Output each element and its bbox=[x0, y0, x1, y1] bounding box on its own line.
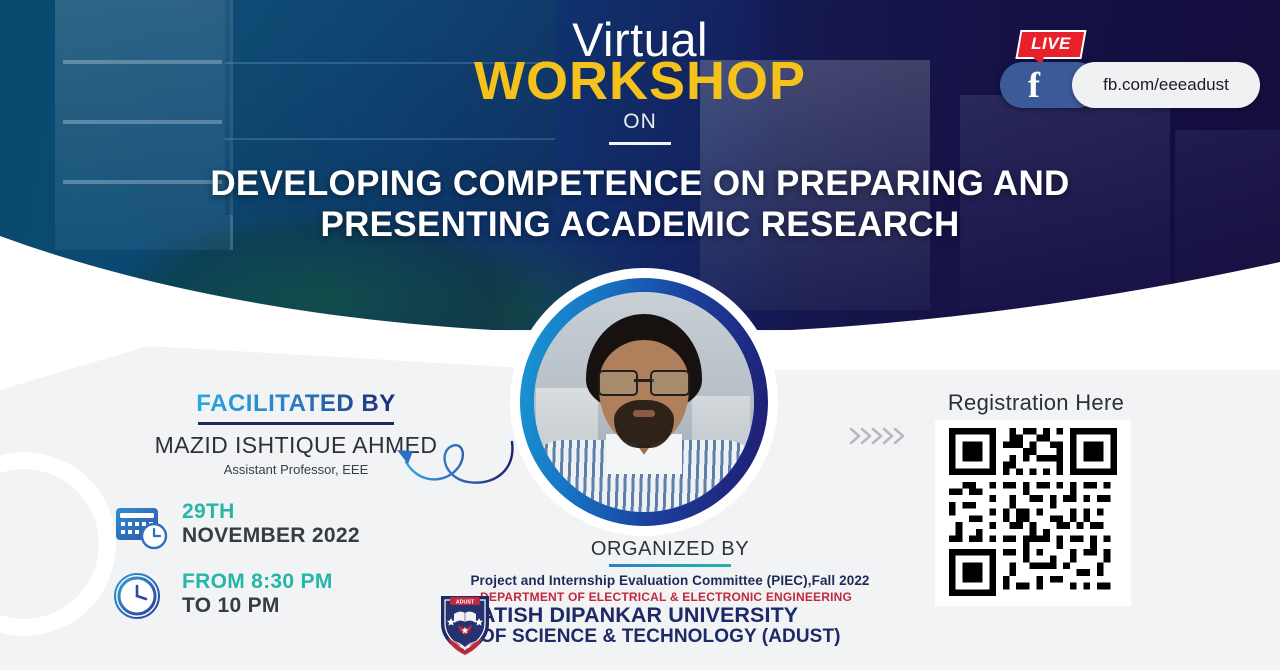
live-badge-label: LIVE bbox=[1031, 34, 1071, 54]
crest-label: ADUST bbox=[456, 600, 475, 606]
workshop-title-line-1: DEVELOPING COMPETENCE ON PREPARING AND bbox=[0, 163, 1280, 204]
schedule-time-text: FROM 8:30 PM TO 10 PM bbox=[182, 570, 442, 617]
qr-code-card[interactable] bbox=[935, 420, 1131, 606]
hero-divider-rule bbox=[609, 142, 671, 145]
workshop-title-line-2: PRESENTING ACADEMIC RESEARCH bbox=[0, 204, 1280, 245]
hero-on-word: ON bbox=[0, 110, 1280, 134]
qr-code-icon[interactable] bbox=[949, 428, 1117, 596]
calendar-icon bbox=[112, 500, 170, 552]
university-crest-icon: ADUST bbox=[438, 590, 492, 656]
photo-beard bbox=[614, 400, 674, 448]
schedule-row-time: FROM 8:30 PM TO 10 PM bbox=[112, 570, 442, 626]
photo-lip bbox=[633, 410, 655, 417]
schedule-row-date: 29TH NOVEMBER 2022 bbox=[112, 500, 442, 556]
live-badge: LIVE bbox=[1015, 30, 1086, 59]
organizer-underline bbox=[609, 564, 731, 567]
schedule-date-text: 29TH NOVEMBER 2022 bbox=[182, 500, 442, 547]
schedule-time-main: TO 10 PM bbox=[182, 594, 442, 618]
clock-icon bbox=[112, 570, 170, 622]
organizer-university-line-1: ATISH DIPANKAR UNIVERSITY bbox=[480, 604, 920, 627]
schedule-block: 29TH NOVEMBER 2022 bbox=[112, 500, 442, 640]
organizer-identity: ADUST DEPARTMENT OF ELECTRICAL & ELECTRO… bbox=[420, 590, 920, 648]
schedule-date-accent: 29TH bbox=[182, 500, 442, 524]
photo-glasses bbox=[598, 370, 690, 392]
facilitated-by-label: FACILITATED BY bbox=[196, 390, 395, 418]
organizer-university-line-2: OF SCIENCE & TECHNOLOGY (ADUST) bbox=[480, 627, 920, 648]
organizer-university: ATISH DIPANKAR UNIVERSITY OF SCIENCE & T… bbox=[480, 604, 920, 648]
speaker-photo bbox=[534, 292, 754, 512]
facilitator-underline bbox=[198, 422, 394, 425]
facebook-url-pill[interactable]: fb.com/eeeadust bbox=[1072, 62, 1260, 108]
organized-by-label: ORGANIZED BY bbox=[420, 538, 920, 561]
organizer-committee: Project and Internship Evaluation Commit… bbox=[420, 573, 920, 588]
speaker-portrait bbox=[510, 268, 778, 536]
facebook-live-block: LIVE f fb.com/eeeadust bbox=[1000, 30, 1260, 112]
curly-arrow-icon bbox=[384, 424, 524, 494]
organizer-block: ORGANIZED BY Project and Internship Eval… bbox=[420, 538, 920, 648]
chevrons-right-icon bbox=[848, 424, 914, 448]
event-poster: Virtual WORKSHOP ON DEVELOPING COMPETENC… bbox=[0, 0, 1280, 670]
decorative-ring bbox=[0, 452, 116, 636]
organizer-department: DEPARTMENT OF ELECTRICAL & ELECTRONIC EN… bbox=[480, 590, 920, 604]
workshop-title: DEVELOPING COMPETENCE ON PREPARING AND P… bbox=[0, 163, 1280, 246]
registration-title: Registration Here bbox=[905, 390, 1167, 416]
schedule-time-accent: FROM 8:30 PM bbox=[182, 570, 442, 594]
schedule-date-main: NOVEMBER 2022 bbox=[182, 524, 442, 548]
